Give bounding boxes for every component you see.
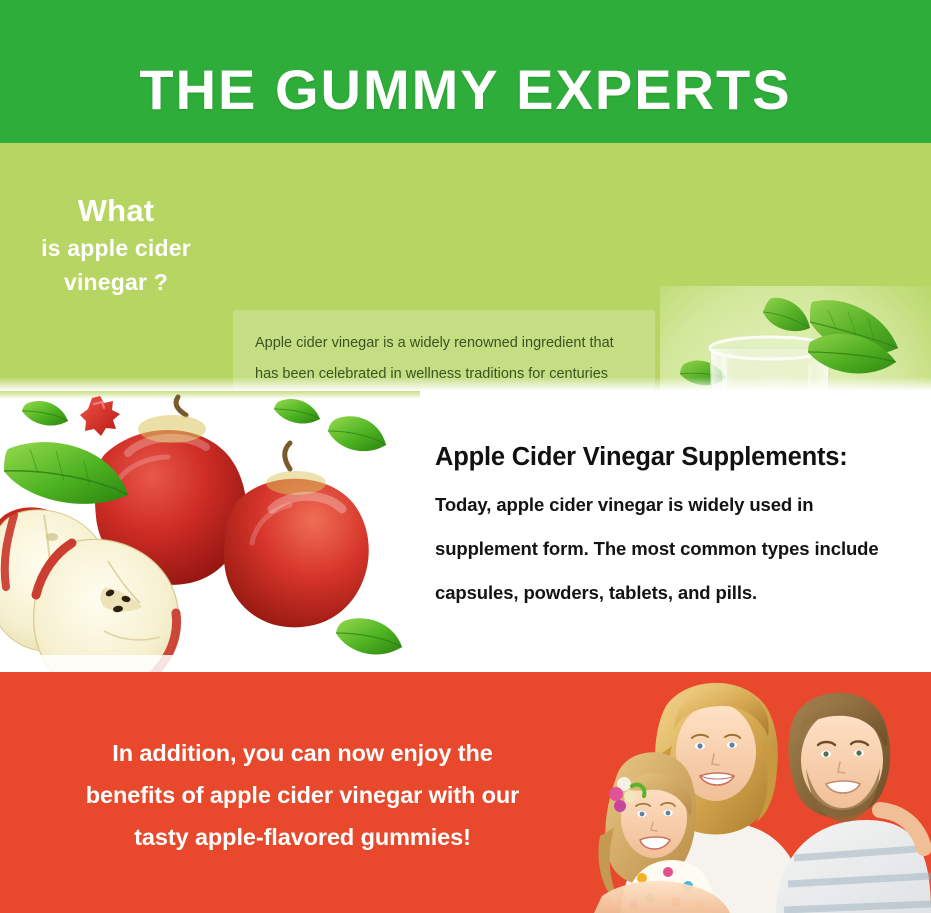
heading-line-1: What: [8, 191, 224, 231]
grass-blades-icon: [0, 0, 931, 46]
gummies-message: In addition, you can now enjoy the benef…: [30, 732, 575, 858]
supplements-body-line-3: capsules, powders, tablets, and pills.: [435, 571, 922, 615]
supplements-title: Apple Cider Vinegar Supplements:: [435, 441, 922, 473]
what-is-acv-heading: What is apple cider vinegar ?: [8, 191, 224, 299]
red-apples-illustration: [0, 391, 420, 672]
apples-image: [0, 391, 420, 672]
header-banner: THE GUMMY EXPERTS: [0, 0, 931, 143]
page-title: THE GUMMY EXPERTS: [0, 58, 931, 122]
supplements-body-line-2: supplement form. The most common types i…: [435, 527, 922, 571]
gummies-line-2: benefits of apple cider vinegar with our: [30, 774, 575, 816]
supplements-body-line-1: Today, apple cider vinegar is widely use…: [435, 483, 922, 527]
family-image: [580, 672, 931, 913]
section-supplements: Apple Cider Vinegar Supplements: Today, …: [0, 391, 931, 672]
section-bottom-fade: [0, 377, 931, 391]
heading-line-2: is apple cider: [8, 231, 224, 265]
section-what-is-acv: What is apple cider vinegar ? Apple cide…: [0, 143, 931, 391]
family-illustration: [580, 672, 931, 913]
section-gummies-cta: In addition, you can now enjoy the benef…: [0, 672, 931, 913]
gummies-line-3: tasty apple-flavored gummies!: [30, 816, 575, 858]
acv-glass-illustration: [660, 286, 931, 391]
gummies-line-1: In addition, you can now enjoy the: [30, 732, 575, 774]
infographic-page: THE GUMMY EXPERTS What is apple cider vi…: [0, 0, 931, 913]
supplements-text-block: Apple Cider Vinegar Supplements: Today, …: [435, 441, 922, 615]
heading-line-3: vinegar ?: [8, 265, 224, 299]
acv-glass-image: [660, 286, 931, 391]
